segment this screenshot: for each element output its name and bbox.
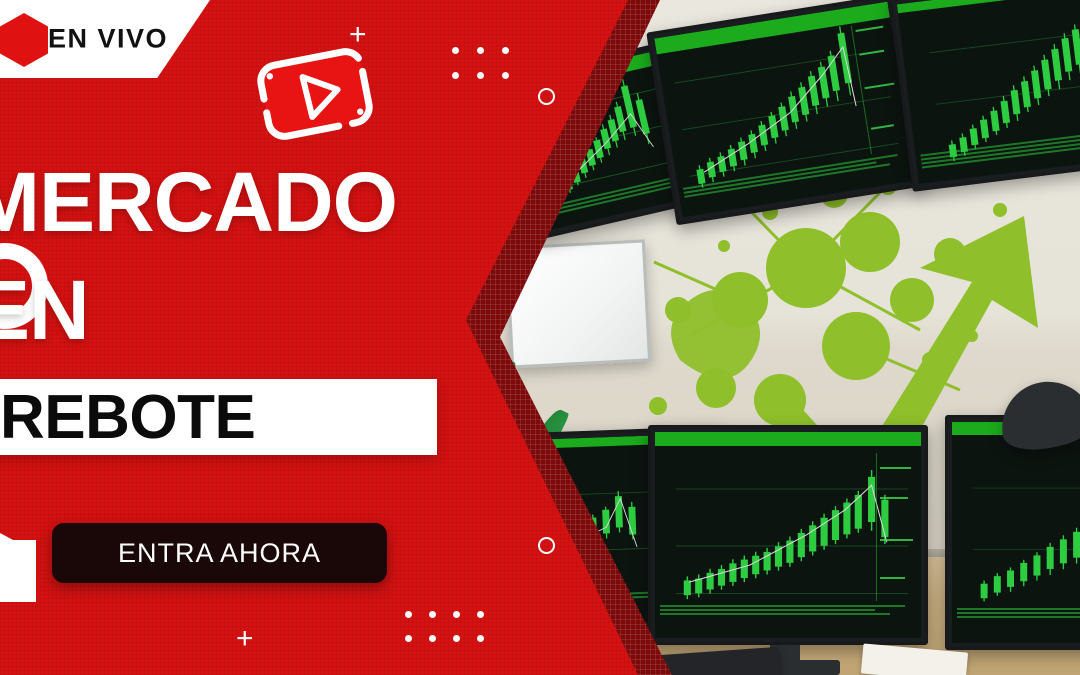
monitor-screen	[655, 432, 921, 638]
screen-price-column	[876, 453, 921, 601]
play-button-icon[interactable]	[250, 42, 380, 147]
entra-ahora-button[interactable]: ENTRA AHORA	[52, 523, 387, 583]
hexagon-icon	[0, 13, 48, 67]
headline-line-2: EN	[0, 268, 89, 352]
monitor-top-2	[646, 0, 923, 225]
monitor-screen	[654, 2, 915, 218]
headline-highlight-bar: REBOTE	[0, 379, 437, 455]
monitor-bottom-2	[648, 425, 928, 645]
live-badge-label: EN VIVO	[48, 24, 168, 55]
monitor-top-3	[889, 0, 1080, 192]
screen-ticker-text	[660, 605, 915, 634]
headline-line-1: MERCADO	[0, 160, 397, 244]
decorative-ring-bottom	[538, 537, 555, 554]
monitor-screen	[897, 0, 1080, 184]
dot-grid-bottom	[405, 611, 484, 642]
plus-mark-bottom: +	[236, 624, 254, 654]
dot-grid-top	[452, 47, 509, 79]
decorative-ring-top	[538, 88, 555, 105]
screen-ticker-text	[957, 608, 1080, 639]
headline-line-3: REBOTE	[0, 382, 255, 453]
cta-label: ENTRA AHORA	[118, 538, 321, 569]
monitor-screen	[952, 422, 1080, 643]
monitor-bottom-3	[945, 415, 1080, 650]
thumbnail-canvas: + + EN VIVO MERCADO EN REBOTE ENTRA AHOR…	[0, 0, 1080, 675]
